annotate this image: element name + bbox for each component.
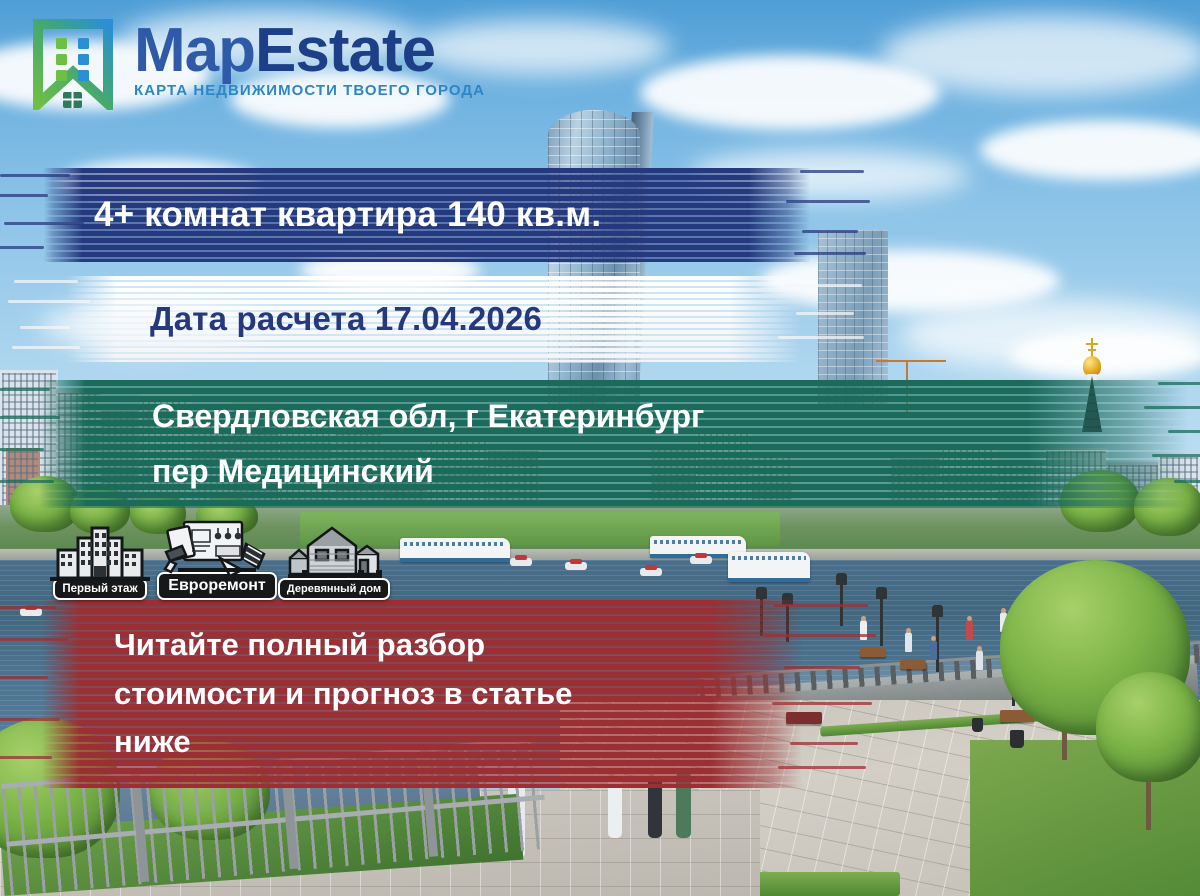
pedestrian	[930, 640, 937, 660]
poster-canvas: MapEstate КАРТА НЕДВИЖИМОСТИ ТВОЕГО ГОРО…	[0, 0, 1200, 896]
pleasure-boat	[565, 562, 587, 570]
badge-label: Евроремонт	[157, 572, 276, 600]
cta-line-3: ниже	[114, 718, 802, 767]
street-lamp	[880, 596, 883, 646]
apartment-building-icon	[46, 524, 154, 582]
badge-first-floor[interactable]: Первый этаж	[46, 524, 154, 600]
pedestrian	[905, 632, 912, 652]
pleasure-boat	[690, 556, 712, 564]
renovation-tools-icon	[158, 518, 276, 576]
pedestrian	[966, 620, 973, 640]
address-banner: Свердловская обл, г Екатеринбург пер Мед…	[40, 380, 1188, 508]
pleasure-boat	[20, 608, 42, 616]
brand-name: MapEstate	[134, 22, 485, 80]
address-line-2: пер Медицинский	[152, 444, 1188, 499]
rooms-text: 4+ комнат квартира 140 кв.м.	[94, 195, 810, 235]
bookmark-building-icon	[30, 18, 116, 110]
address-banner-text-wrap: Свердловская обл, г Екатеринбург пер Мед…	[40, 389, 1188, 499]
cta-banner-text-wrap: Читайте полный разбор стоимости и прогно…	[42, 621, 802, 768]
calculation-date-text: Дата расчета 17.04.2026	[150, 300, 802, 338]
wooden-house-icon	[280, 524, 388, 582]
pleasure-boat	[640, 568, 662, 576]
brand-logo[interactable]: MapEstate КАРТА НЕДВИЖИМОСТИ ТВОЕГО ГОРО…	[30, 18, 550, 114]
cta-banner: Читайте полный разбор стоимости и прогно…	[42, 600, 802, 788]
pedestrian	[976, 650, 983, 670]
park-bench	[860, 648, 886, 657]
rooms-banner-text-wrap: 4+ комнат квартира 140 кв.м.	[44, 195, 810, 235]
passenger-ship	[728, 552, 810, 582]
badge-wooden-house[interactable]: Деревянный дом	[280, 524, 388, 600]
brand-name-map: Map	[134, 16, 255, 85]
address-line-1: Свердловская обл, г Екатеринбург	[152, 389, 1188, 444]
rooms-banner: 4+ комнат квартира 140 кв.м.	[44, 168, 810, 262]
date-banner-text-wrap: Дата расчета 17.04.2026	[66, 300, 802, 338]
brand-wordmark: MapEstate КАРТА НЕДВИЖИМОСТИ ТВОЕГО ГОРО…	[134, 18, 485, 99]
calculation-date-banner: Дата расчета 17.04.2026	[66, 276, 802, 362]
trash-bin	[972, 718, 983, 732]
cloud	[880, 15, 1200, 95]
street-lamp	[840, 582, 843, 626]
feature-badges: Первый этаж	[46, 518, 388, 600]
park-bench	[900, 660, 926, 669]
trash-bin	[1010, 730, 1024, 748]
tree	[1096, 672, 1200, 782]
pleasure-boat	[510, 558, 532, 566]
pedestrian	[860, 620, 867, 640]
cta-line-1: Читайте полный разбор	[114, 621, 802, 670]
window-icon	[63, 92, 82, 108]
brand-tagline: КАРТА НЕДВИЖИМОСТИ ТВОЕГО ГОРОДА	[134, 82, 485, 99]
passenger-ship	[400, 538, 510, 562]
brand-name-estate: Estate	[255, 16, 435, 85]
badge-euro-renovation[interactable]: Евроремонт	[158, 518, 276, 600]
cta-line-2: стоимости и прогноз в статье	[114, 670, 802, 719]
